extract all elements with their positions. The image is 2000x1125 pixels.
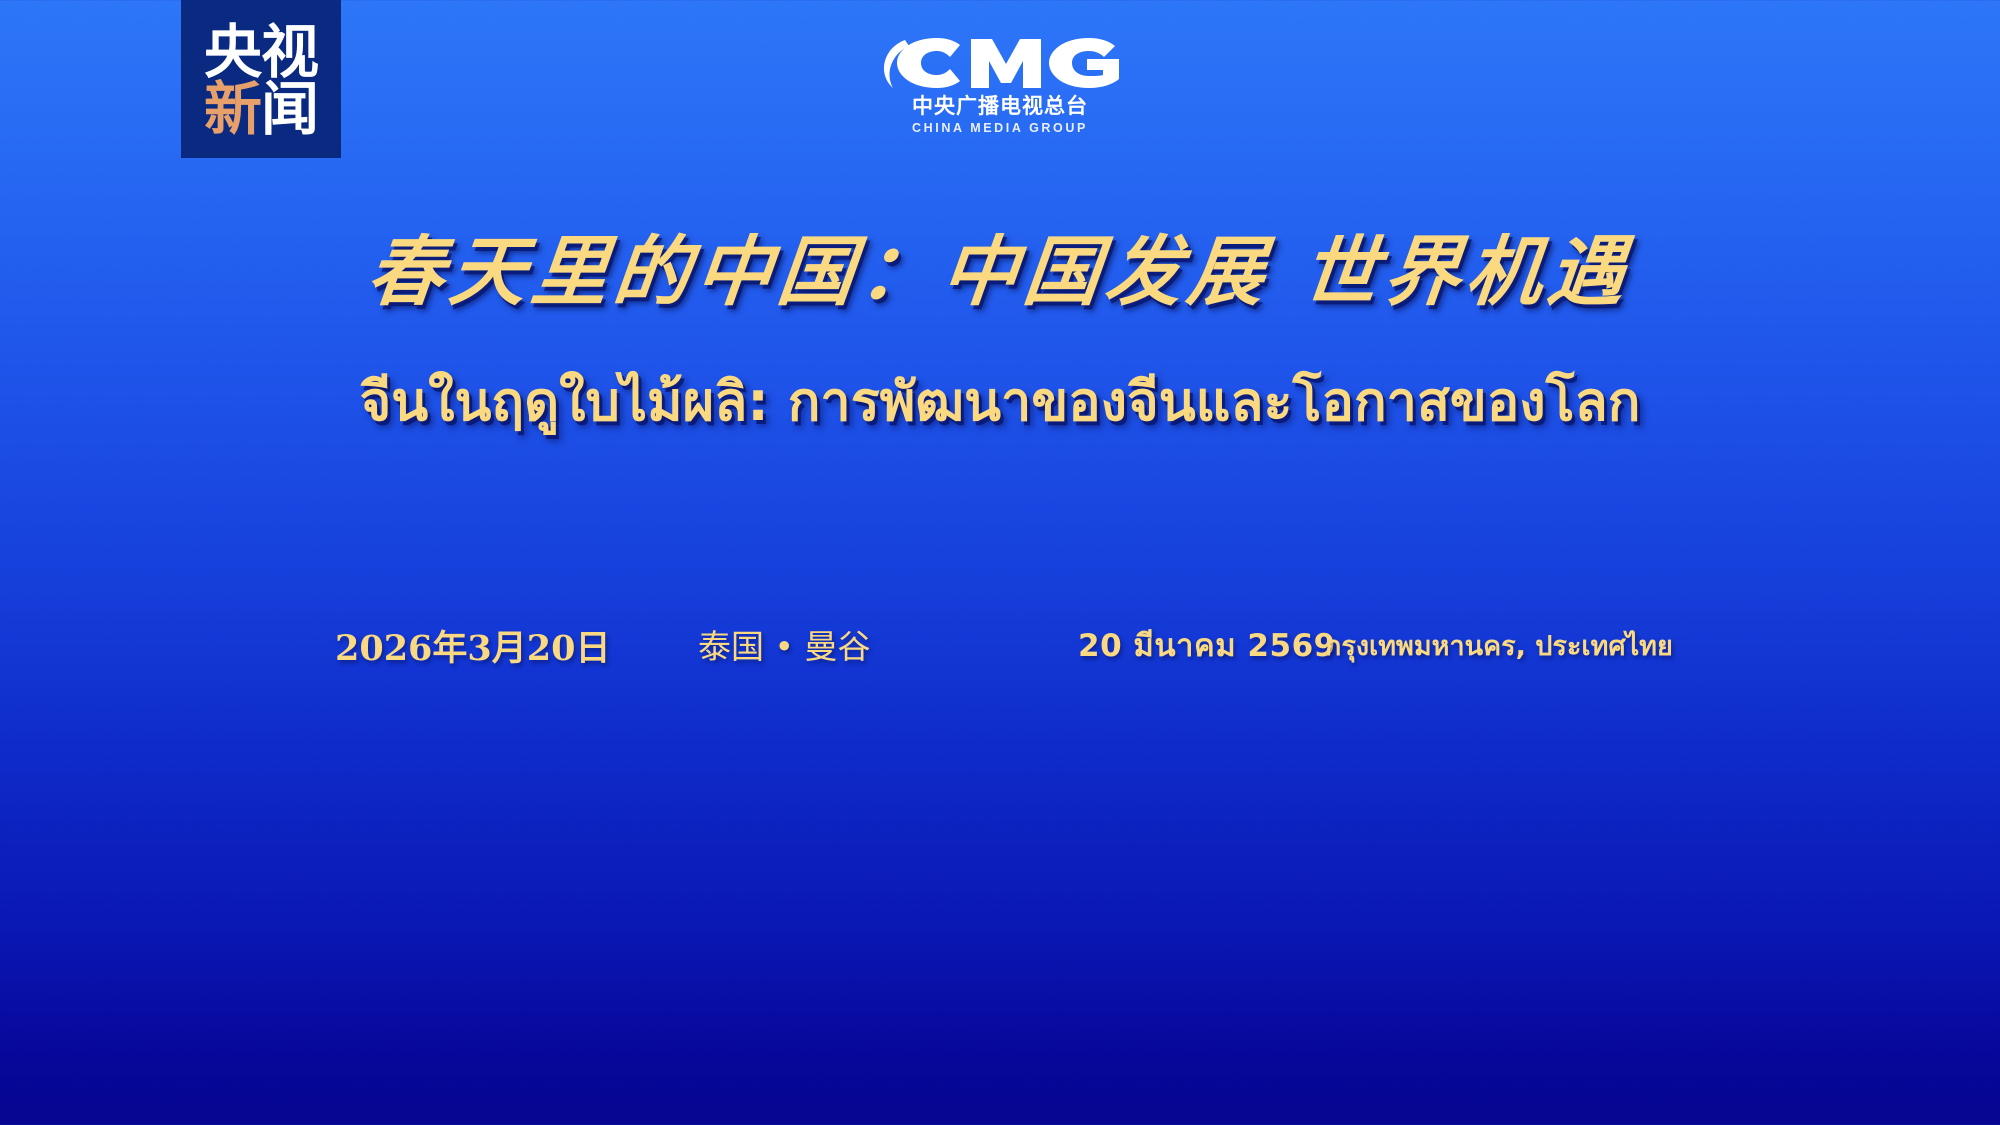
cmg-logo: 中央广播电视总台 CHINA MEDIA GROUP (870, 34, 1130, 135)
cctv-logo-text-wen: 闻 (261, 82, 318, 137)
event-date-chinese: 2026年3月20日 (335, 620, 610, 671)
subtitle-thai: จีนในฤดูใบไม้ผลิ: การพัฒนาของจีนและโอกาส… (0, 358, 2000, 444)
cmg-logo-name-chinese: 中央广播电视总台 (912, 95, 1088, 118)
cctv-logo-text-xin: 新 (204, 82, 261, 137)
cmg-logo-mark-icon (875, 34, 1125, 92)
cmg-logo-name-english: CHINA MEDIA GROUP (912, 121, 1088, 135)
event-location-chinese: 泰国 • 曼谷 (698, 620, 870, 668)
cctv-logo-line-2: 新 闻 (204, 82, 318, 137)
event-date-thai: 20 มีนาคม 2569 (1078, 620, 1336, 670)
event-location-thai: กรุงเทพมหานคร, ประเทศไทย (1325, 624, 1673, 667)
cctv-logo-text-yangshi: 央视 (204, 25, 318, 80)
cctv-news-logo: 央视 新 闻 (181, 0, 341, 158)
event-info-row: 2026年3月20日 泰国 • 曼谷 20 มีนาคม 2569 กรุงเท… (335, 620, 1680, 668)
main-title-chinese: 春天里的中国：中国发展 世界机遇 (0, 210, 2000, 320)
cctv-logo-line-1: 央视 (204, 25, 318, 80)
